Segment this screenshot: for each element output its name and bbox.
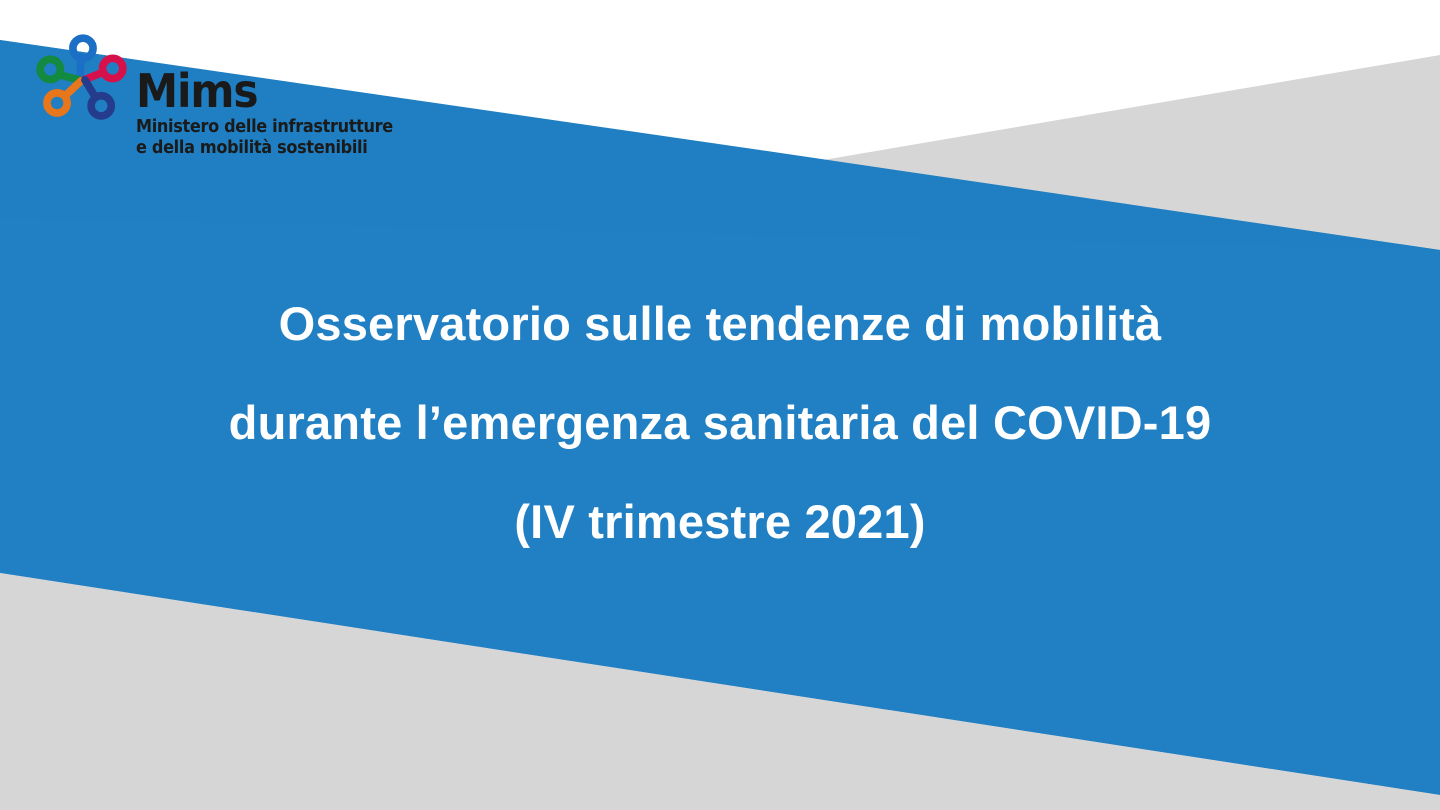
slide-title-line-3: (IV trimestre 2021) <box>0 498 1440 545</box>
node-left-green <box>40 59 79 80</box>
mims-pinwheel-mark-icon <box>34 30 130 126</box>
mims-wordmark: Mims <box>136 70 393 112</box>
slide-title-line-1: Osservatorio sulle tendenze di mobilità <box>0 300 1440 347</box>
node-bottom-right-navy <box>85 80 111 116</box>
mims-logo-lockup: Mims Ministero delle infrastrutture e de… <box>34 26 415 158</box>
ministry-subtitle-line-2: e della mobilità sostenibili <box>136 138 393 158</box>
node-right-crimson <box>84 58 123 80</box>
slide-title-line-2: durante l’emergenza sanitaria del COVID-… <box>0 399 1440 446</box>
slide-title-block: Osservatorio sulle tendenze di mobilità … <box>0 300 1440 545</box>
logo-text-block: Mims Ministero delle infrastrutture e de… <box>136 70 415 158</box>
ministry-subtitle-line-1: Ministero delle infrastrutture <box>136 117 393 137</box>
title-slide: Mims Ministero delle infrastrutture e de… <box>0 0 1440 810</box>
node-bottom-left-orange <box>47 81 81 113</box>
node-top-blue <box>73 38 93 77</box>
